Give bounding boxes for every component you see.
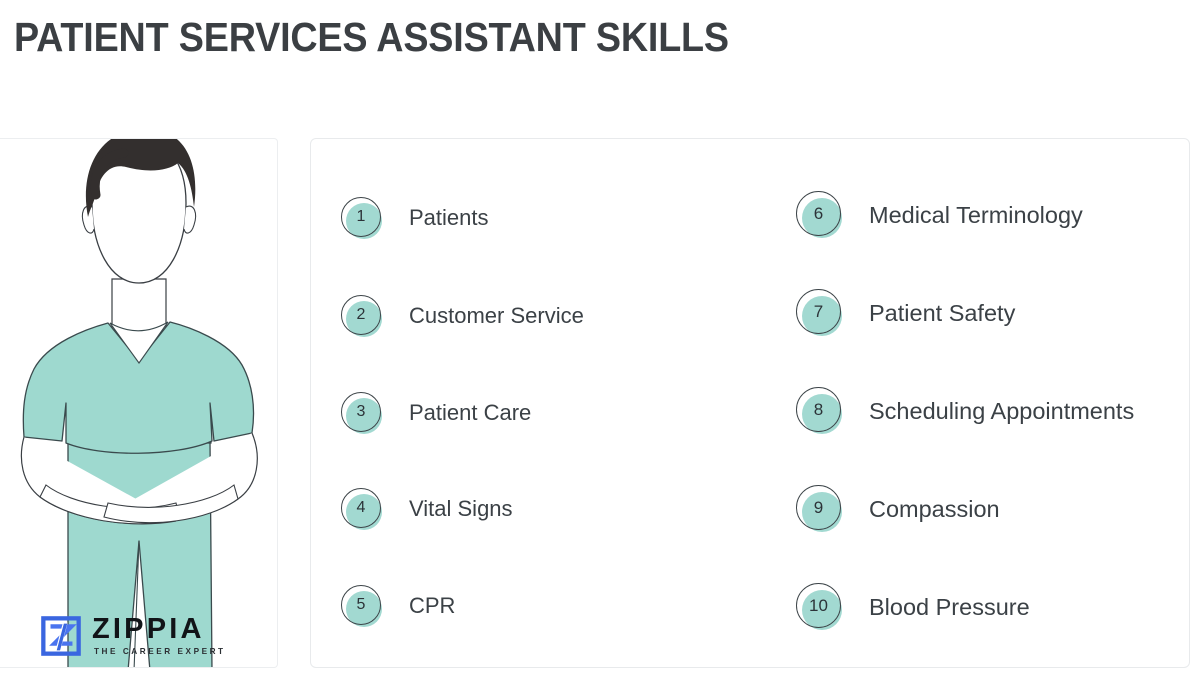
skill-number-badge: 6: [794, 189, 846, 241]
skill-item-1[interactable]: 1 Patients: [339, 195, 489, 241]
skill-label: Patients: [409, 205, 489, 231]
skill-number-badge: 5: [339, 583, 385, 629]
skills-card: 1 Patients 2 Customer Service 3 Patie: [310, 138, 1190, 668]
skill-item-8[interactable]: 8 Scheduling Appointments: [794, 385, 1134, 437]
skill-number-badge: 2: [339, 293, 385, 339]
skill-label: CPR: [409, 593, 455, 619]
skill-number-badge: 10: [794, 581, 846, 633]
zippia-tagline: THE CAREER EXPERT: [94, 648, 226, 656]
skills-column-right: 6 Medical Terminology 7 Patient Safety 8: [756, 139, 1189, 667]
skill-item-2[interactable]: 2 Customer Service: [339, 293, 584, 339]
skill-number: 2: [341, 295, 381, 335]
illustration-panel: ZIPPIA THE CAREER EXPERT: [0, 138, 278, 668]
skill-item-5[interactable]: 5 CPR: [339, 583, 455, 629]
skill-number: 10: [796, 583, 841, 628]
skill-item-4[interactable]: 4 Vital Signs: [339, 486, 513, 532]
person-illustration-icon: [0, 138, 278, 668]
skill-number: 8: [796, 387, 841, 432]
skills-column-left: 1 Patients 2 Customer Service 3 Patie: [311, 139, 744, 667]
skill-label: Patient Safety: [869, 300, 1015, 327]
skill-number: 9: [796, 485, 841, 530]
skill-label: Compassion: [869, 496, 1000, 523]
skill-item-6[interactable]: 6 Medical Terminology: [794, 189, 1083, 241]
skill-number: 4: [341, 488, 381, 528]
skill-number-badge: 1: [339, 195, 385, 241]
zippia-z-mark-icon: [40, 615, 82, 657]
zippia-wordmark: ZIPPIA: [92, 615, 226, 644]
skill-number: 1: [341, 197, 381, 237]
skill-item-3[interactable]: 3 Patient Care: [339, 390, 531, 436]
skill-label: Vital Signs: [409, 496, 513, 522]
skill-item-9[interactable]: 9 Compassion: [794, 483, 1000, 535]
skill-number: 6: [796, 191, 841, 236]
skill-number-badge: 4: [339, 486, 385, 532]
skill-label: Customer Service: [409, 303, 584, 329]
skill-number: 5: [341, 585, 381, 625]
skill-label: Patient Care: [409, 400, 531, 426]
skill-number-badge: 7: [794, 287, 846, 339]
skill-label: Blood Pressure: [869, 594, 1030, 621]
skill-item-7[interactable]: 7 Patient Safety: [794, 287, 1015, 339]
skill-number: 3: [341, 392, 381, 432]
skill-number-badge: 8: [794, 385, 846, 437]
skill-number-badge: 9: [794, 483, 846, 535]
skill-number-badge: 3: [339, 390, 385, 436]
skill-label: Medical Terminology: [869, 202, 1083, 229]
skill-number: 7: [796, 289, 841, 334]
skill-label: Scheduling Appointments: [869, 398, 1134, 425]
zippia-logo[interactable]: ZIPPIA THE CAREER EXPERT: [40, 615, 226, 657]
skill-item-10[interactable]: 10 Blood Pressure: [794, 581, 1030, 633]
page-title: PATIENT SERVICES ASSISTANT SKILLS: [14, 14, 729, 61]
